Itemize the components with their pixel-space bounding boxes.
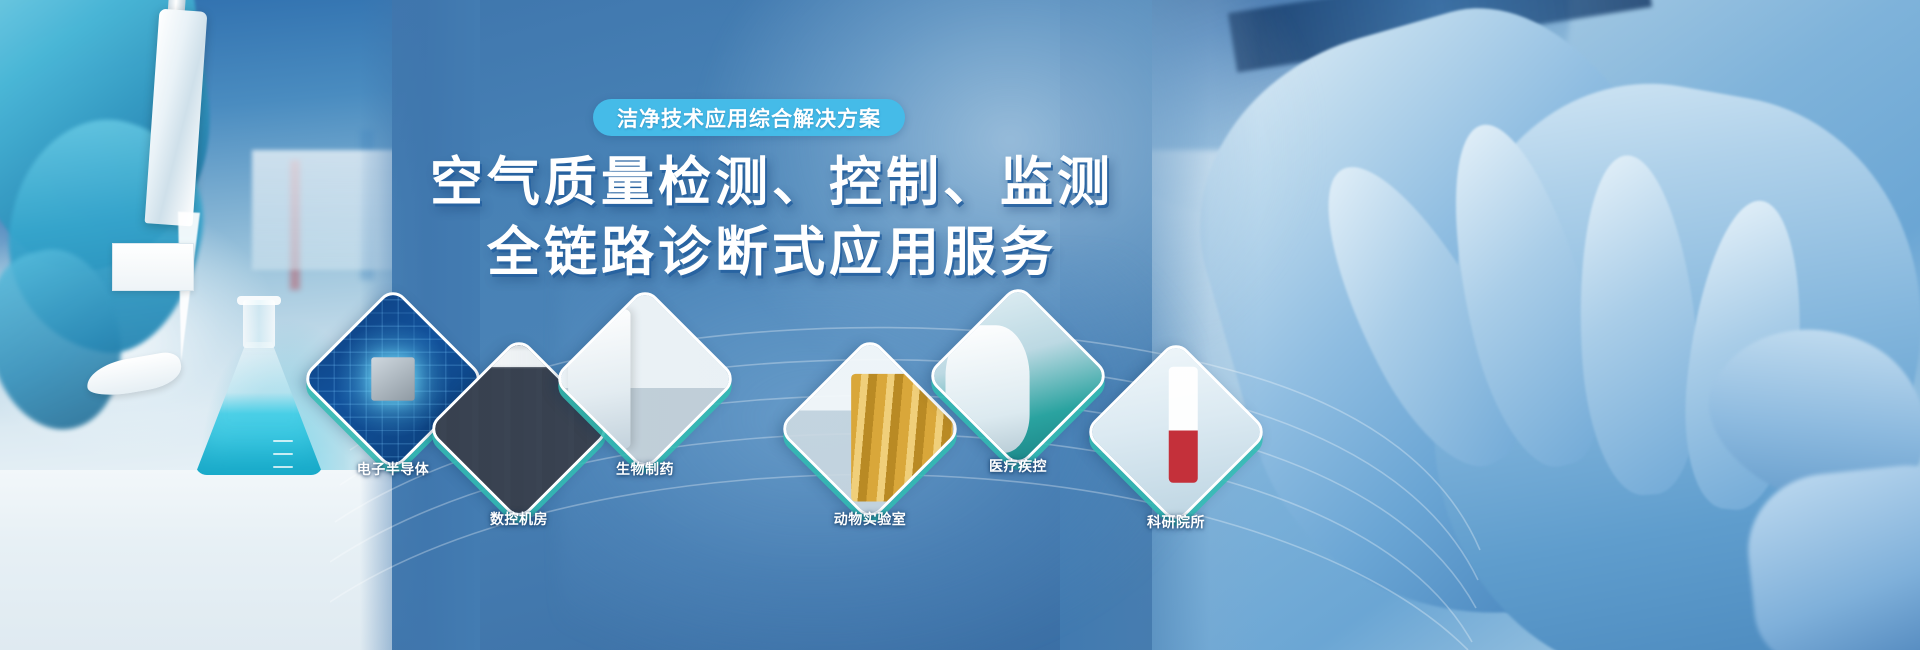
medical-disease-control-icon <box>927 285 1110 468</box>
card-diamond-frame <box>925 283 1112 470</box>
card-diamond-frame <box>1083 339 1270 526</box>
industry-card-research[interactable]: 科研院所 <box>1110 366 1242 498</box>
card-diamond-frame <box>552 286 739 473</box>
biopharmaceutical-icon <box>554 288 737 471</box>
card-label: 科研院所 <box>1147 512 1205 532</box>
industry-card-animal-lab[interactable]: 动物实验室 <box>804 363 936 495</box>
industry-card-row: 电子半导体 数控机房 生物制药 动物实验室 医疗疾控 <box>0 0 1920 650</box>
card-label: 电子半导体 <box>357 459 430 479</box>
industry-card-biopharma[interactable]: 生物制药 <box>579 313 711 445</box>
card-label: 生物制药 <box>616 459 674 479</box>
hero-banner: 洁净技术应用综合解决方案 空气质量检测、控制、监测 全链路诊断式应用服务 电子半… <box>0 0 1920 650</box>
industry-card-medical[interactable]: 医疗疾控 <box>952 310 1084 442</box>
card-label: 医疗疾控 <box>989 456 1047 476</box>
research-institute-icon <box>1085 341 1268 524</box>
card-label: 动物实验室 <box>834 509 907 529</box>
card-label: 数控机房 <box>490 509 548 529</box>
